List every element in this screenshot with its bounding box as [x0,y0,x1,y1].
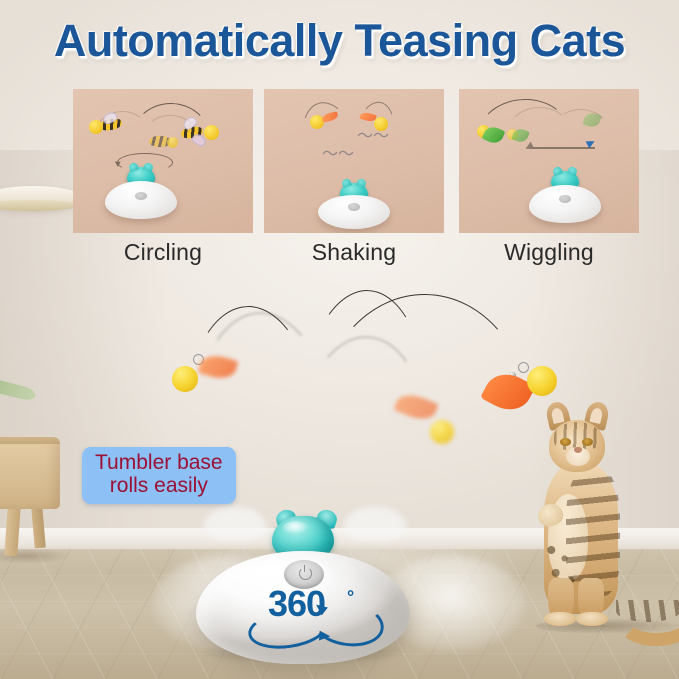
stool-top-edge [0,437,60,444]
cat-head-markings [554,422,600,450]
wiggling-mode-illustration [459,89,639,233]
rotation-360-badge: 360 ° [250,586,380,648]
yellow-pompom-left [89,120,103,134]
dome-highlight [283,521,309,534]
feature-label-shaking: Shaking [264,239,444,266]
panel-button-shaking [348,203,360,211]
feature-label-wiggling: Wiggling [459,239,639,266]
panel-button-circling [135,192,147,200]
shaking-mode-illustration: 〜〜 〜〜 [264,89,444,233]
yellow-pompom-left-wand [172,366,198,392]
cat-eye-left [560,438,571,446]
yellow-ball-right-wand [527,366,557,396]
panel-base-circling [105,181,177,219]
wooden-side-stool [0,437,60,509]
feature-panel-circling[interactable]: Circling [73,89,253,233]
page-title: Automatically Teasing Cats [0,15,679,67]
feature-panel-row: Circling 〜〜 〜〜 Shaking [0,89,679,269]
power-icon [299,567,312,580]
cat-foot-left [544,612,576,626]
vibration-wave-icon-right: 〜〜 [357,129,389,145]
feature-panel-shaking[interactable]: 〜〜 〜〜 Shaking [264,89,444,233]
yellow-pompom-right [204,125,219,140]
cat-nose [574,447,582,453]
panel-base-shaking [318,195,390,229]
tumbler-base-callout: Tumbler base rolls easily [82,447,236,504]
base-ghost-right [344,507,406,541]
wand-ring-right [518,362,529,373]
base-ghost-left [204,507,266,541]
wiggle-path-line [529,147,595,149]
circling-mode-illustration [73,89,253,233]
rotation-value: 360 [268,586,325,622]
panel-button-wiggling [559,195,571,203]
yellow-pompom-ghost [167,137,178,148]
bengal-cat [516,400,679,650]
vibration-wave-icon-left: 〜〜 [322,147,354,163]
feature-label-circling: Circling [73,239,253,266]
callout-line-2: rolls easily [95,475,223,498]
feature-panel-wiggling[interactable]: Wiggling [459,89,639,233]
panel-base-wiggling [529,185,601,223]
degree-symbol: ° [347,588,354,606]
product-marketing-image: Automatically Teasing Cats [0,0,679,679]
cat-foot-right [576,612,608,626]
callout-line-1: Tumbler base [95,452,223,475]
cat-tail-stripes [616,600,679,622]
cat-eye-right [582,438,593,446]
